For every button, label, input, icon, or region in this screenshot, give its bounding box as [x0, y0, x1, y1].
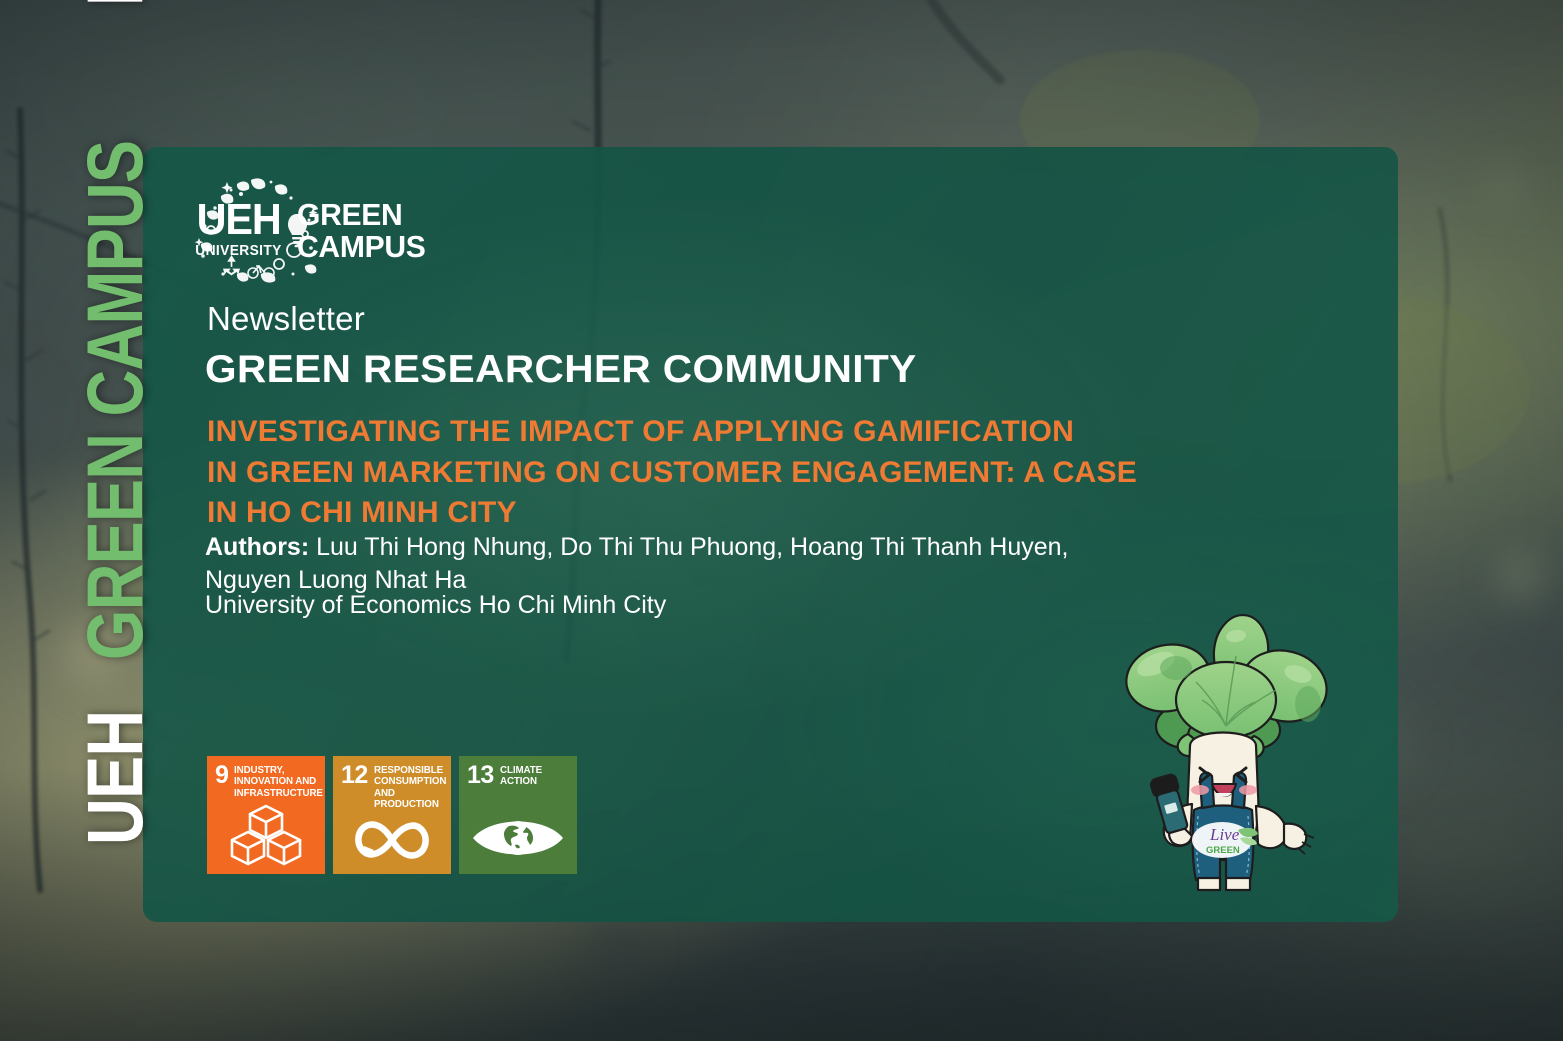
- affiliation: University of Economics Ho Chi Minh City: [205, 591, 666, 620]
- eye-earth-icon: [459, 814, 577, 862]
- sdg-badge-group: 9 INDUSTRY, INNOVATION AND INFRASTRUCTUR…: [207, 756, 577, 874]
- mascot-overall-green-text: GREEN: [1206, 845, 1240, 856]
- authors-label: Authors:: [205, 533, 309, 561]
- side-label-green-campus: GREEN CAMPUS: [69, 141, 161, 660]
- logo-campus-text: CAMPUS: [297, 231, 426, 263]
- paper-title: INVESTIGATING THE IMPACT OF APPLYING GAM…: [207, 412, 1217, 534]
- paper-title-line-3: IN HO CHI MINH CITY: [207, 493, 517, 534]
- vertical-podcast-label: UEH GREEN CAMPUS PODCAST: [60, 45, 170, 845]
- sdg-badge-13-label: CLIMATE ACTION: [500, 765, 567, 788]
- page-title-text: GREEN RESEARCHER COMMUNITY: [205, 348, 917, 392]
- sdg-badge-13-head: 13 CLIMATE ACTION: [459, 756, 577, 788]
- page-title: GREEN RESEARCHER COMMUNITY: [205, 348, 889, 392]
- sdg-badge-12[interactable]: 12 RESPONSIBLE CONSUMPTION AND PRODUCTIO…: [333, 756, 451, 874]
- industry-blocks-icon: [207, 802, 325, 868]
- infinity-loop-icon: [333, 816, 451, 864]
- sdg-badge-12-label: RESPONSIBLE CONSUMPTION AND PRODUCTION: [374, 765, 446, 811]
- logo-university-text: UNIVERSITY: [195, 243, 281, 260]
- sdg-badge-9-label: INDUSTRY, INNOVATION AND INFRASTRUCTURE: [234, 765, 323, 799]
- logo-green-text: GREEN: [297, 199, 426, 231]
- sdg-badge-12-number: 12: [341, 765, 368, 787]
- sdg-badge-13[interactable]: 13 CLIMATE ACTION: [459, 756, 577, 874]
- paper-title-line-1: INVESTIGATING THE IMPACT OF APPLYING GAM…: [207, 412, 1074, 453]
- sdg-badge-9[interactable]: 9 INDUSTRY, INNOVATION AND INFRASTRUCTUR…: [207, 756, 325, 874]
- mascot-overall-live-text: Live: [1209, 825, 1240, 844]
- logo-ueh-block: UEH UNIVERSITY: [193, 196, 284, 261]
- side-label-ueh: UEH: [69, 711, 161, 845]
- sdg-badge-13-number: 13: [467, 765, 494, 787]
- sdg-badge-12-head: 12 RESPONSIBLE CONSUMPTION AND PRODUCTIO…: [333, 756, 451, 811]
- logo-ueh-text: UEH: [197, 200, 281, 240]
- authors-block: Authors: Luu Thi Hong Nhung, Do Thi Thu …: [205, 531, 1155, 598]
- newsletter-kicker: Newsletter: [207, 300, 365, 338]
- side-label-podcast: PODCAST: [69, 0, 161, 6]
- sdg-badge-9-head: 9 INDUSTRY, INNOVATION AND INFRASTRUCTUR…: [207, 756, 325, 799]
- paper-title-line-2: IN GREEN MARKETING ON CUSTOMER ENGAGEMEN…: [207, 453, 1137, 494]
- sdg-badge-9-number: 9: [215, 765, 228, 787]
- live-green-radish-mascot: Live GREEN: [1108, 608, 1338, 908]
- ueh-green-campus-logo: UEH UNIVERSITY GREEN CAMPUS: [193, 196, 430, 268]
- logo-green-campus-block: GREEN CAMPUS: [297, 196, 430, 263]
- authors-line-1: Luu Thi Hong Nhung, Do Thi Thu Phuong, H…: [309, 533, 1068, 561]
